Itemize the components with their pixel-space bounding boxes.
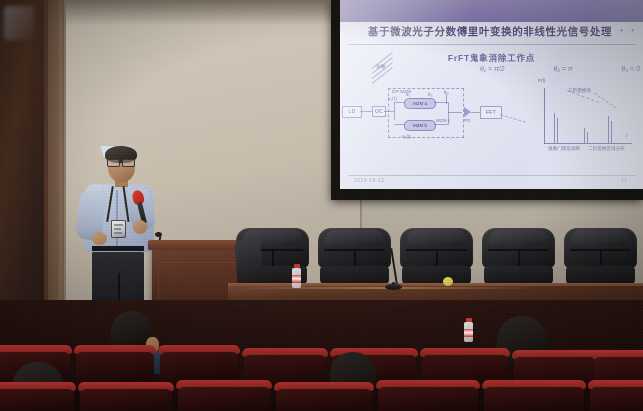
chair-lower-back [320, 266, 389, 284]
phase-label-row: θ₁ = π/2 θ₂ = π θ₃ = 0 [480, 66, 640, 73]
badge-line [114, 228, 121, 230]
chair-lower-back [402, 266, 471, 284]
auditorium-seat [482, 380, 586, 411]
wire [448, 102, 449, 125]
water-bottle [292, 264, 301, 288]
seat-cushion [276, 389, 372, 411]
phase-label-3: θ₃ = 0 [622, 66, 640, 73]
plot-xlabel: f [626, 134, 627, 139]
plot-annotation-1: 三阶变换项 [568, 88, 591, 94]
block-mzm-b: MZM b [404, 120, 436, 131]
badge-line [114, 232, 122, 234]
bottle-label [464, 329, 473, 337]
grating-label: 光栅 [376, 64, 385, 70]
block-pd: PD [464, 118, 471, 123]
spectral-line [557, 118, 558, 143]
phase-marker-theta2: θ₂ [428, 92, 433, 97]
chair-seam-vertical [436, 250, 438, 267]
bottle-label [292, 275, 301, 283]
chair-headrest [571, 230, 630, 245]
yellow-object [443, 277, 453, 286]
signal-label-s2: s₂(t) [402, 134, 411, 139]
chair-headrest [325, 230, 384, 245]
block-fft: FFT [480, 106, 502, 119]
slide-divider-bottom [348, 175, 636, 176]
spectral-line [611, 121, 612, 143]
executive-chair [564, 228, 637, 290]
chair-headrest [489, 230, 548, 245]
executive-chair [400, 228, 473, 290]
phase-label-2: θ₂ = π [553, 66, 572, 73]
panel-light-reflection [4, 6, 34, 40]
connector-dashed [500, 114, 525, 122]
optical-system-diagram: 光栅 s₁(t) LD OC DP-MZM MZM a MZM b MZM c … [340, 74, 520, 169]
shirt-placket [116, 190, 118, 248]
chair-lower-back [566, 266, 635, 284]
wire [384, 111, 394, 112]
auditorium-seat [376, 380, 480, 411]
seat-cushion [590, 387, 643, 411]
plot-ylabel: P(f) [538, 78, 545, 83]
phase-label-1: θ₁ = π/2 [480, 66, 505, 73]
block-mzm-a: MZM a [404, 98, 436, 109]
slide-header-bar [340, 0, 643, 22]
phase-marker-theta3: θ₃ [444, 90, 449, 95]
chair-headrest [407, 230, 466, 245]
phase-marker-theta1: θ₁ [406, 92, 410, 97]
wire [434, 124, 448, 125]
seat-cushion [178, 387, 270, 411]
projection-screen: 基于微波光子分数傅里叶变换的非线性光信号处理 • • FrFT鬼象消除工作点 θ… [340, 0, 643, 189]
chair-seam-vertical [272, 250, 274, 267]
id-badge [111, 220, 126, 238]
wall-seam [62, 0, 64, 300]
wire [471, 112, 480, 113]
wire [394, 102, 395, 120]
lens-right [122, 159, 135, 167]
spectral-line [587, 132, 588, 143]
draped-coat [234, 239, 263, 287]
wire [448, 112, 462, 113]
slide-page-number: 17 [621, 178, 627, 184]
chair-lower-back [484, 266, 553, 284]
auditorium-seat [78, 382, 174, 411]
microphone-base [385, 284, 402, 290]
block-ld: LD [342, 106, 362, 118]
slide-divider-top [348, 44, 636, 45]
water-bottle [464, 318, 473, 342]
seat-cushion [80, 389, 172, 411]
plot-x-axis [544, 143, 632, 144]
spectrum-plot: P(f) f 三阶变换项 鬼象门限及调制 二阶变换区域分布 [526, 80, 636, 164]
wire [360, 111, 372, 112]
executive-chair [318, 228, 391, 290]
presenter-left-hand [92, 232, 107, 245]
amplifier-icon [464, 107, 471, 117]
seat-cushion [378, 387, 478, 411]
auditorium-seat [74, 345, 156, 387]
seat-cushion [484, 387, 584, 411]
wire [394, 102, 405, 103]
slide-title: 基于微波光子分数傅里叶变换的非线性光信号处理 [354, 24, 626, 40]
badge-line [114, 224, 123, 226]
chair-seam-vertical [518, 250, 520, 267]
auditorium-seat [588, 380, 643, 411]
slide-title-marks: • • [620, 26, 637, 35]
auditorium-seat [0, 382, 76, 411]
gooseneck-microphone [392, 282, 395, 286]
auditorium-seat [176, 380, 272, 411]
plot-y-axis [544, 88, 545, 144]
presenter-right-hand [133, 220, 147, 234]
wire [394, 124, 405, 125]
chair-seam-vertical [600, 250, 602, 267]
presentation-photo: 基于微波光子分数傅里叶变换的非线性光信号处理 • • FrFT鬼象消除工作点 θ… [0, 0, 643, 411]
auditorium-seat [274, 382, 374, 411]
executive-chair [482, 228, 555, 290]
spectral-line [608, 116, 609, 143]
presenter-belt [92, 246, 144, 251]
eyeglasses-icon [107, 159, 135, 165]
seat-cushion [0, 389, 74, 411]
spectral-line [584, 128, 585, 143]
plot-annotation-2: 鬼象门限及调制 [548, 146, 580, 152]
wire [446, 94, 447, 104]
chair-seam-vertical [354, 250, 356, 267]
spectral-line [554, 113, 555, 143]
wood-wall-panel-left [0, 0, 48, 318]
plot-annotation-3: 二阶变换区域分布 [588, 146, 625, 152]
slide-footer-date: 2019-10-12 [354, 178, 385, 184]
